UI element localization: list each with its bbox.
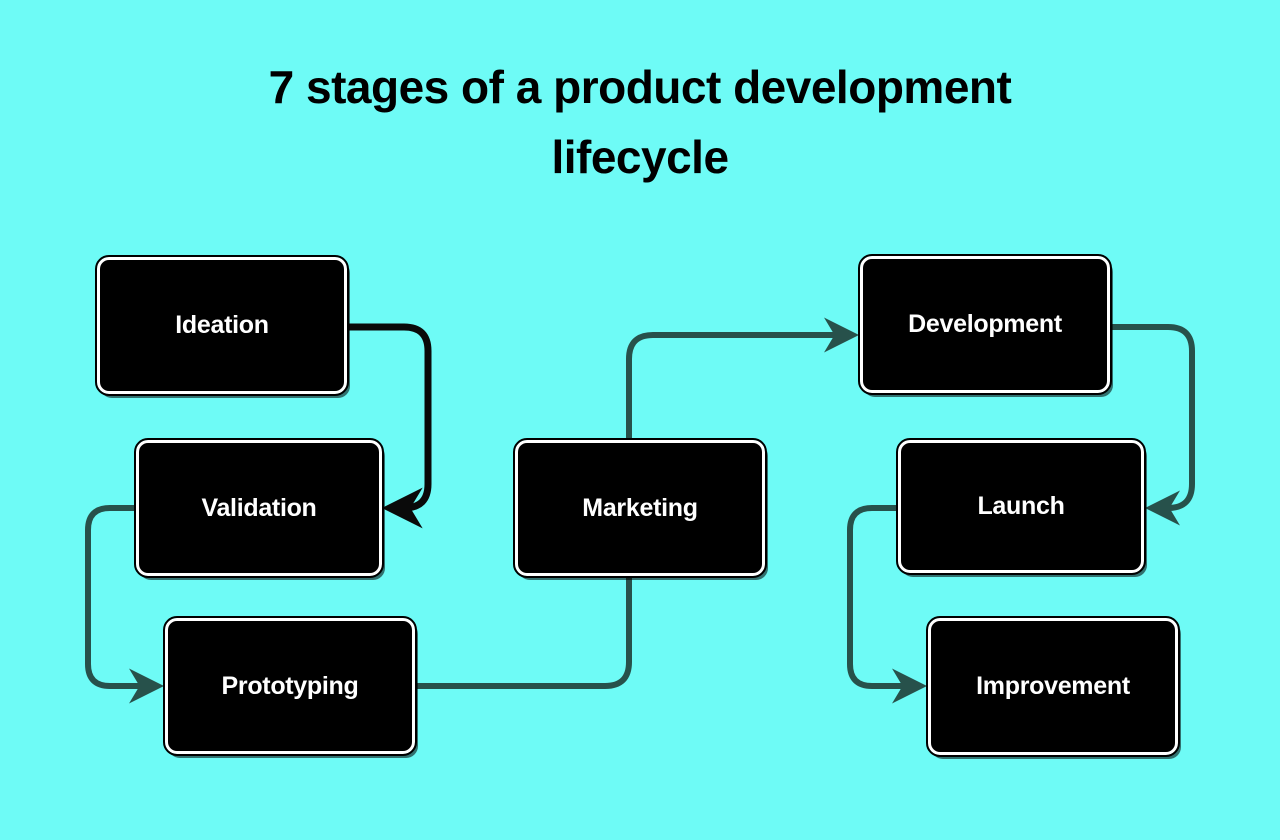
node-label-ideation: Ideation [175,311,268,340]
node-label-development: Development [908,310,1062,339]
node-label-launch: Launch [977,492,1064,521]
diagram-canvas: 7 stages of a product development lifecy… [0,0,1280,840]
node-marketing[interactable]: Marketing [515,440,765,576]
node-launch[interactable]: Launch [898,440,1144,573]
node-prototyping[interactable]: Prototyping [165,618,415,754]
node-label-improvement: Improvement [976,672,1130,701]
connector-marketing-to-development [629,335,852,440]
node-label-marketing: Marketing [582,494,697,523]
node-improvement[interactable]: Improvement [928,618,1178,755]
node-label-validation: Validation [201,494,316,523]
connector-prototyping-to-marketing [417,575,629,686]
node-development[interactable]: Development [860,256,1110,393]
node-validation[interactable]: Validation [136,440,382,576]
node-label-prototyping: Prototyping [222,672,359,701]
page-title: 7 stages of a product development lifecy… [0,52,1280,192]
node-ideation[interactable]: Ideation [97,257,347,394]
